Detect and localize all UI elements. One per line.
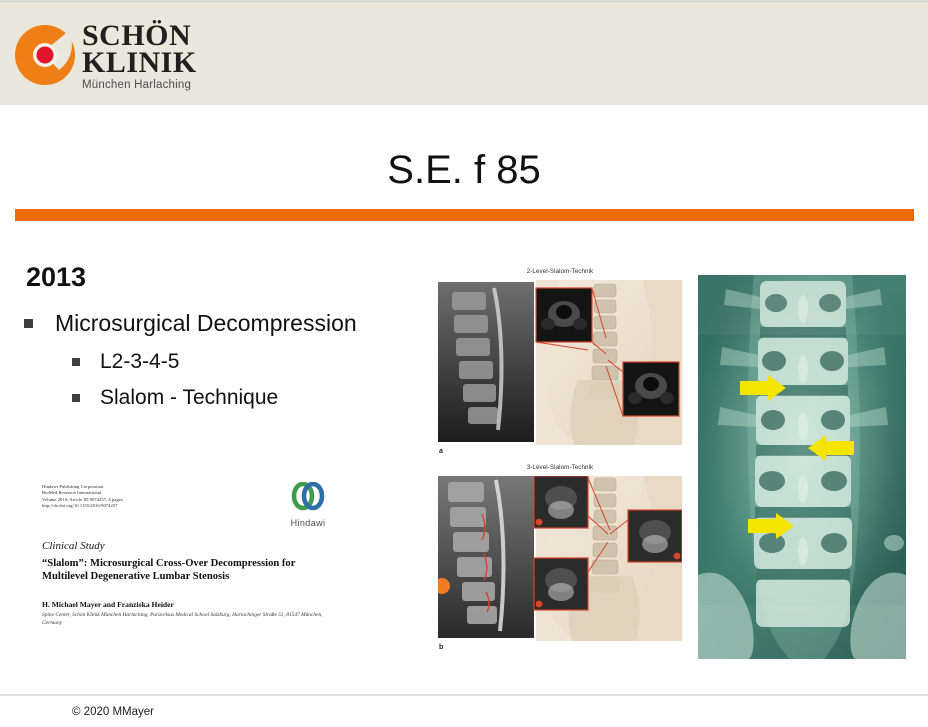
footer-divider	[0, 694, 928, 696]
figure-image	[438, 280, 682, 445]
list-item: Microsurgical Decompression	[24, 308, 424, 338]
bullet-list: Microsurgical Decompression L2-3-4-5 Sla…	[24, 308, 424, 420]
article-title: “Slalom”: Microsurgical Cross-Over Decom…	[42, 557, 342, 583]
figure-caption: 3-Level-Slalom-Technik	[435, 464, 685, 471]
slide: SCHÖN KLINIK München Harlaching S.E. f 8…	[0, 0, 928, 727]
figure-panel: 2-Level-Slalom-Technik	[435, 268, 685, 660]
year-heading: 2013	[26, 262, 86, 293]
article-authors: H. Michael Mayer and Franziska Heider	[42, 600, 342, 609]
page-title: S.E. f 85	[0, 148, 928, 193]
brand-location: München Harlaching	[82, 79, 197, 91]
figure-caption: 2-Level-Slalom-Technik	[435, 268, 685, 275]
journal-doi: http://dx.doi.org/10.1155/2016/9074257	[42, 503, 222, 509]
bullet-label: L2-3-4-5	[100, 348, 179, 376]
brand-line-2: KLINIK	[82, 49, 197, 76]
figure-label: b	[439, 644, 443, 651]
figure-b: 3-Level-Slalom-Technik	[435, 464, 685, 660]
accent-bar	[15, 209, 914, 221]
schoen-klinik-disc-logo	[14, 24, 76, 86]
figure-image	[438, 476, 682, 641]
footer-copyright: © 2020 MMayer	[72, 706, 154, 718]
figure-label: a	[439, 448, 443, 455]
brand-logo: SCHÖN KLINIK München Harlaching	[14, 24, 204, 88]
bullet-square-icon	[24, 319, 33, 328]
journal-metadata: Hindawi Publishing Corporation BioMed Re…	[42, 484, 222, 510]
brand-wordmark: SCHÖN KLINIK München Harlaching	[82, 22, 197, 91]
figure-a: 2-Level-Slalom-Technik	[435, 268, 685, 464]
hindawi-logo: Hindawi	[276, 482, 340, 528]
journal-header: Hindawi Publishing Corporation BioMed Re…	[40, 484, 350, 524]
bullet-label: Slalom - Technique	[100, 384, 278, 412]
lumbar-spine-xray	[698, 275, 906, 659]
article-affiliation: Spine Center, Schön Klinik München Harla…	[42, 612, 342, 627]
list-item: L2-3-4-5	[72, 348, 424, 376]
bullet-label: Microsurgical Decompression	[55, 308, 357, 338]
journal-article-thumbnail: Hindawi Publishing Corporation BioMed Re…	[40, 484, 350, 644]
hindawi-wordmark: Hindawi	[276, 518, 340, 528]
bullet-square-icon	[72, 358, 80, 366]
article-kicker: Clinical Study	[42, 540, 105, 552]
list-item: Slalom - Technique	[72, 384, 424, 412]
bullet-square-icon	[72, 394, 80, 402]
brand-line-1: SCHÖN	[82, 22, 197, 49]
